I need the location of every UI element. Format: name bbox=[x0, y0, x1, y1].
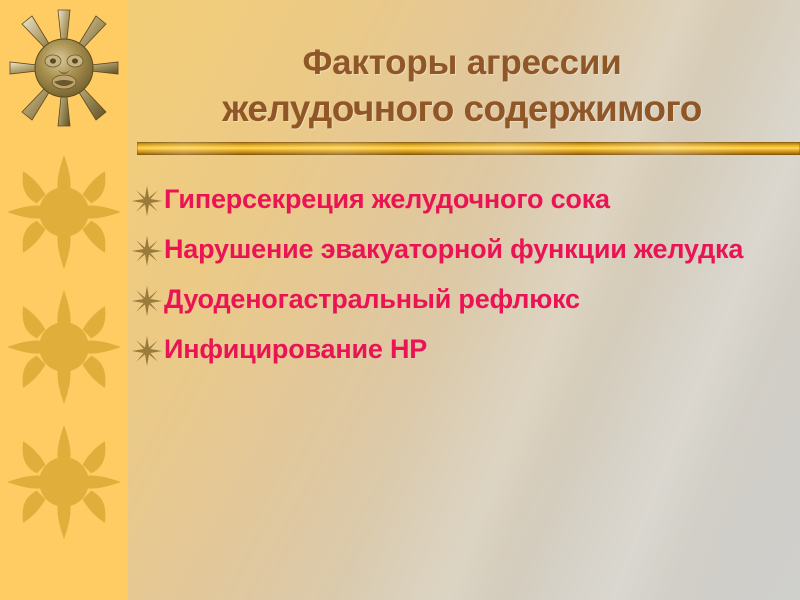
gold-bar-divider bbox=[137, 142, 800, 155]
list-item: Гиперсекреция желудочного сока bbox=[130, 182, 790, 218]
sun-silhouette-icon bbox=[2, 420, 126, 544]
star-bullet-icon bbox=[130, 284, 164, 318]
list-item-label: Гиперсекреция желудочного сока bbox=[164, 182, 790, 216]
sun-silhouette-icon bbox=[2, 285, 126, 409]
list-item-label: Инфицирование НР bbox=[164, 332, 790, 366]
list-item-label: Дуоденогастральный рефлюкс bbox=[164, 282, 790, 316]
star-bullet-icon bbox=[130, 334, 164, 368]
sun-silhouette-icon bbox=[2, 150, 126, 274]
list-item: Нарушение эвакуаторной функции желудка bbox=[130, 232, 790, 268]
star-bullet-icon bbox=[130, 184, 164, 218]
bullet-list: Гиперсекреция желудочного сока bbox=[130, 182, 790, 382]
list-item-label: Нарушение эвакуаторной функции желудка bbox=[164, 232, 790, 266]
sun-medallion-icon bbox=[8, 4, 120, 132]
slide-title-line-2: желудочного содержимого bbox=[132, 86, 792, 133]
list-item: Дуоденогастральный рефлюкс bbox=[130, 282, 790, 318]
slide-canvas: Факторы агрессии желудочного содержимого bbox=[0, 0, 800, 600]
slide-title: Факторы агрессии желудочного содержимого bbox=[132, 41, 792, 132]
slide-title-line-1: Факторы агрессии bbox=[132, 41, 792, 85]
star-bullet-icon bbox=[130, 234, 164, 268]
list-item: Инфицирование НР bbox=[130, 332, 790, 368]
